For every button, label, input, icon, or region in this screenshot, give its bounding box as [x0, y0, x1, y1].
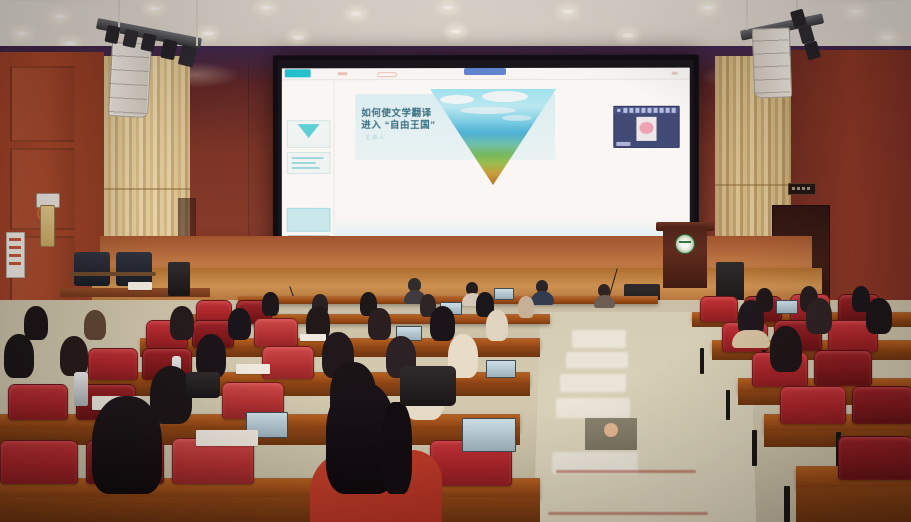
- video-conference-window[interactable]: [613, 106, 679, 148]
- desk-front-panel: [796, 487, 911, 522]
- ceiling-downlight: [440, 4, 456, 11]
- backpack-on-desk[interactable]: [400, 366, 456, 406]
- slide-thumbnail[interactable]: [287, 208, 331, 232]
- person-hair: [24, 306, 48, 340]
- wall-notice-poster: [6, 232, 25, 278]
- person-body: [594, 295, 615, 308]
- person-hair: [170, 306, 194, 340]
- person-body: [732, 330, 770, 348]
- desk-leg: [752, 430, 757, 466]
- triangle-icon: [298, 124, 320, 138]
- person-hair: [4, 334, 34, 378]
- ceiling-downlight: [880, 34, 896, 41]
- person-hair: [60, 336, 88, 376]
- person-hair: [92, 396, 162, 494]
- floor-red-reflection: [548, 512, 708, 515]
- auditorium-seat[interactable]: [780, 386, 846, 424]
- slide-thumbnail[interactable]: [287, 152, 331, 174]
- fire-extinguisher-box: [40, 205, 55, 247]
- person-hair: [262, 292, 279, 316]
- auditorium-seat[interactable]: [88, 348, 138, 380]
- desk-leg: [700, 348, 704, 374]
- notebook-paper: [300, 334, 326, 341]
- ceiling-downlight: [848, 8, 864, 15]
- person-hair: [806, 298, 832, 334]
- water-bottle[interactable]: [74, 372, 88, 406]
- laptop-screen[interactable]: [486, 360, 516, 378]
- speaker-module-seams: [108, 42, 150, 116]
- desk-front-panel: [80, 384, 530, 396]
- speaker-module-seams: [752, 27, 790, 96]
- desk-leg: [784, 486, 790, 522]
- ceiling-downlight: [448, 28, 464, 35]
- ceiling-downlight: [560, 8, 576, 15]
- ppt-active-tab[interactable]: [285, 69, 311, 77]
- ceiling-downlight: [14, 30, 30, 37]
- slide-canvas[interactable]: 如何使文学翻译 进入 “自由王国” 主讲人: [335, 84, 687, 246]
- person-hair-strand: [382, 402, 412, 494]
- floor-reflection: [572, 330, 626, 348]
- stage-armchair[interactable]: [74, 252, 110, 286]
- tablet-screen[interactable]: [462, 418, 516, 452]
- window-snap-pill[interactable]: [464, 68, 506, 75]
- notebook-paper: [196, 430, 258, 446]
- participant-face: [639, 122, 653, 134]
- ceiling-downlight: [200, 30, 216, 37]
- participant-name-label: [616, 142, 630, 146]
- projection-screen[interactable]: 如何使文学翻译 进入 “自由王国” 主讲人: [282, 68, 690, 262]
- slide-thumbnail[interactable]: [287, 120, 331, 148]
- exit-sign: [788, 183, 816, 195]
- desk-front-panel: [0, 497, 540, 522]
- ppt-ribbon-control[interactable]: [337, 72, 347, 75]
- ppt-ribbon-control[interactable]: [672, 72, 678, 75]
- slide-title: 如何使文学翻译: [361, 108, 431, 120]
- slide-subtitle: 主讲人: [365, 134, 386, 141]
- floor-reflected-poster: [585, 418, 637, 450]
- auditorium-seat[interactable]: [0, 440, 78, 484]
- person-hair: [368, 308, 391, 340]
- ceiling-downlight: [290, 34, 306, 41]
- participant-video-tile: [636, 117, 656, 141]
- floor-red-reflection: [556, 470, 696, 473]
- ceiling-downlight: [620, 32, 636, 39]
- laptop-screen[interactable]: [494, 288, 514, 300]
- truss-rod: [196, 0, 198, 46]
- person-hair: [228, 308, 251, 340]
- floor-reflection: [556, 398, 630, 418]
- ppt-ribbon-control[interactable]: [377, 72, 397, 77]
- floor-reflection: [566, 352, 628, 368]
- auditorium-seat[interactable]: [700, 296, 738, 322]
- auditorium-seat[interactable]: [814, 350, 872, 386]
- ceiling-downlight: [700, 4, 716, 11]
- chair-armrest: [70, 272, 114, 276]
- video-window-title-text: [623, 108, 676, 113]
- person-hair: [486, 310, 508, 341]
- backpack-on-desk[interactable]: [186, 372, 220, 398]
- person-hair: [84, 310, 106, 340]
- floor-reflection: [560, 374, 626, 392]
- desk-leg: [726, 390, 730, 420]
- lecture-hall-photo: 如何使文学翻译 进入 “自由王国” 主讲人: [0, 0, 911, 522]
- floor-monitor-speaker: [168, 262, 190, 296]
- ceiling-downlight: [258, 4, 274, 11]
- slide-thumbnail-rail[interactable]: [282, 80, 335, 247]
- auditorium-seat[interactable]: [262, 346, 314, 379]
- person-hair: [430, 306, 455, 341]
- stage-table-paper: [128, 282, 152, 290]
- auditorium-seat[interactable]: [838, 436, 911, 480]
- person-hair: [770, 326, 802, 372]
- person-hair: [518, 296, 534, 318]
- podium-emblem: [675, 234, 695, 254]
- ceiling-downlight: [146, 5, 162, 12]
- ceiling-downlight: [348, 10, 364, 17]
- slide-title-second-line: 进入 “自由王国”: [361, 120, 435, 132]
- auditorium-seat[interactable]: [254, 318, 298, 347]
- person-body: [531, 291, 554, 305]
- chair-armrest: [112, 272, 156, 276]
- person-hair: [866, 298, 892, 334]
- auditorium-seat[interactable]: [852, 386, 911, 424]
- truss-rod: [746, 0, 748, 30]
- laptop-screen[interactable]: [776, 300, 798, 314]
- stage-armchair[interactable]: [116, 252, 152, 286]
- ceiling-downlight: [52, 13, 68, 20]
- wall-panel: [10, 66, 76, 142]
- notebook-paper: [236, 364, 270, 374]
- video-window-title-bar[interactable]: [614, 107, 678, 114]
- auditorium-seat[interactable]: [8, 384, 68, 420]
